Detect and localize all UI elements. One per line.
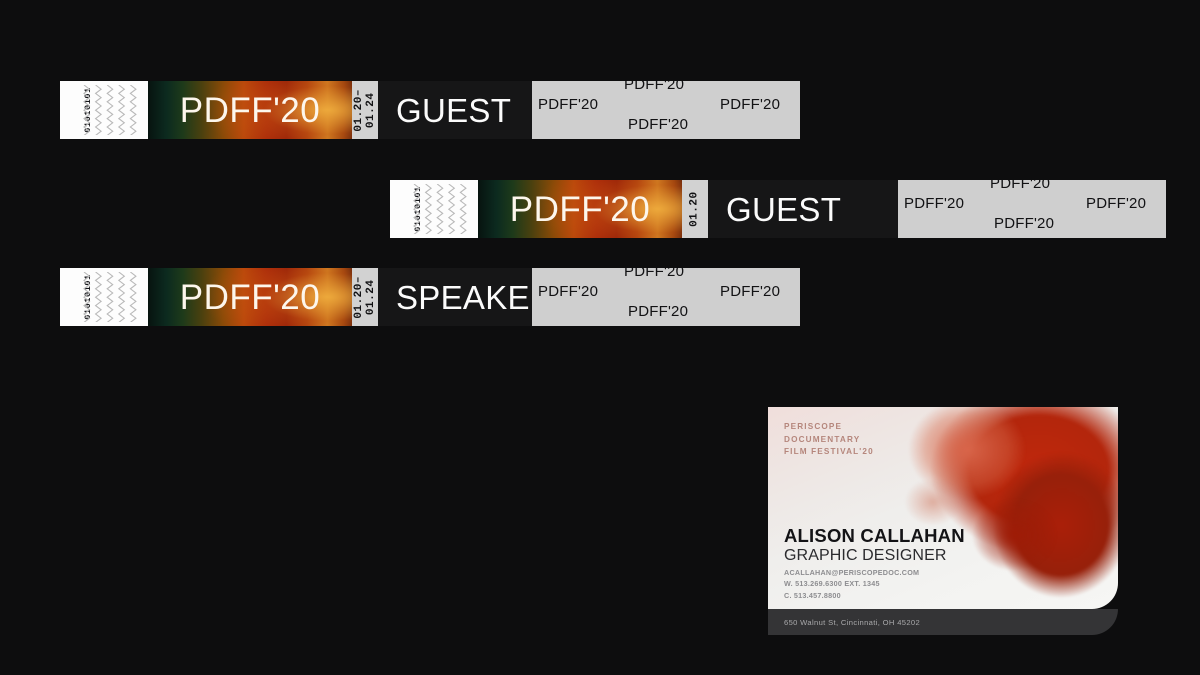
- card-address: 650 Walnut St, Cincinnati, OH 45202: [784, 618, 920, 627]
- ticket-stub: 01010101: [60, 268, 148, 326]
- ticket-guest-1[interactable]: 01010101PDFF'2001.20GUESTPDFF'20PDFF'20P…: [390, 180, 1166, 238]
- pattern-text: PDFF'20: [628, 117, 688, 132]
- ticket-date-stub: 01.20: [682, 180, 708, 238]
- zigzag-pattern: [82, 272, 146, 322]
- ticket-guest-0[interactable]: 01010101PDFF'2001.20–01.24GUESTPDFF'20PD…: [60, 81, 800, 139]
- pattern-text: PDFF'20: [994, 216, 1054, 231]
- ticket-pattern-patch: PDFF'20PDFF'20PDFF'20PDFF'20PDFF'20PDFF'…: [532, 268, 800, 326]
- ticket-date-stub: 01.20–01.24: [352, 268, 378, 326]
- ticket-role-section: GUEST: [378, 81, 532, 139]
- card-phone-cell: C. 513.457.8800: [784, 590, 919, 601]
- role-label: SPEAKER: [396, 281, 554, 314]
- pattern-text: PDFF'20: [904, 196, 964, 211]
- card-holder-title: GRAPHIC DESIGNER: [784, 548, 947, 564]
- date-label: 01.20–01.24: [353, 89, 378, 132]
- zigzag-pattern: [82, 85, 146, 135]
- ticket-speaker-2[interactable]: 01010101PDFF'2001.20–01.24SPEAKERPDFF'20…: [60, 268, 800, 326]
- ticket-stub: 01010101: [60, 81, 148, 139]
- ticket-pattern-patch: PDFF'20PDFF'20PDFF'20PDFF'20PDFF'20PDFF'…: [898, 180, 1166, 238]
- festival-logo-line: DOCUMENTARY: [784, 434, 874, 447]
- card-face: PERISCOPEDOCUMENTARYFILM FESTIVAL'20ALIS…: [768, 407, 1118, 609]
- card-contact-block: ACALLAHAN@PERISCOPEDOC.COMW. 513.269.630…: [784, 567, 919, 601]
- ticket-brand-band: PDFF'20: [478, 180, 682, 238]
- ticket-brand-band: PDFF'20: [148, 268, 352, 326]
- festival-logo-line: FILM FESTIVAL'20: [784, 446, 874, 459]
- brand-label: PDFF'20: [510, 192, 651, 227]
- date-label: 01.20: [689, 191, 701, 227]
- zigzag-icon: [82, 272, 146, 322]
- zigzag-icon: [412, 184, 476, 234]
- pattern-text: PDFF'20: [538, 284, 598, 299]
- pattern-text: PDFF'20: [718, 324, 778, 326]
- card-address-bar: 650 Walnut St, Cincinnati, OH 45202: [768, 609, 1118, 635]
- pattern-text: PDFF'20: [624, 81, 684, 92]
- ticket-brand-band: PDFF'20: [148, 81, 352, 139]
- festival-logo-line: PERISCOPE: [784, 421, 874, 434]
- role-label: GUEST: [396, 94, 511, 127]
- pattern-text: PDFF'20: [534, 137, 594, 139]
- pattern-text: PDFF'20: [720, 284, 780, 299]
- pattern-text: PDFF'20: [1086, 196, 1146, 211]
- pattern-text: PDFF'20: [628, 304, 688, 319]
- pattern-text: PDFF'20: [718, 137, 778, 139]
- pattern-text: PDFF'20: [900, 236, 960, 238]
- zigzag-pattern: [412, 184, 476, 234]
- ticket-role-section: SPEAKER: [378, 268, 532, 326]
- pattern-text: PDFF'20: [720, 97, 780, 112]
- card-email: ACALLAHAN@PERISCOPEDOC.COM: [784, 567, 919, 578]
- ticket-date-stub: 01.20–01.24: [352, 81, 378, 139]
- brand-label: PDFF'20: [180, 280, 321, 315]
- ink-wash-shape: [898, 473, 968, 531]
- poster-canvas: 01010101PDFF'2001.20–01.24GUESTPDFF'20PD…: [0, 0, 1200, 675]
- ticket-pattern-patch: PDFF'20PDFF'20PDFF'20PDFF'20PDFF'20PDFF'…: [532, 81, 800, 139]
- card-holder-name: ALISON CALLAHAN: [784, 527, 965, 546]
- festival-logo: PERISCOPEDOCUMENTARYFILM FESTIVAL'20: [784, 421, 874, 459]
- pattern-text: PDFF'20: [990, 180, 1050, 191]
- brand-label: PDFF'20: [180, 93, 321, 128]
- ticket-stub: 01010101: [390, 180, 478, 238]
- card-phone-work: W. 513.269.6300 EXT. 1345: [784, 578, 919, 589]
- pattern-text: PDFF'20: [538, 97, 598, 112]
- ticket-role-section: GUEST: [708, 180, 898, 238]
- zigzag-icon: [82, 85, 146, 135]
- pattern-text: PDFF'20: [624, 268, 684, 279]
- role-label: GUEST: [726, 193, 841, 226]
- business-card[interactable]: PERISCOPEDOCUMENTARYFILM FESTIVAL'20ALIS…: [768, 407, 1118, 635]
- pattern-text: PDFF'20: [1084, 236, 1144, 238]
- date-label: 01.20–01.24: [353, 276, 378, 319]
- pattern-text: PDFF'20: [534, 324, 594, 326]
